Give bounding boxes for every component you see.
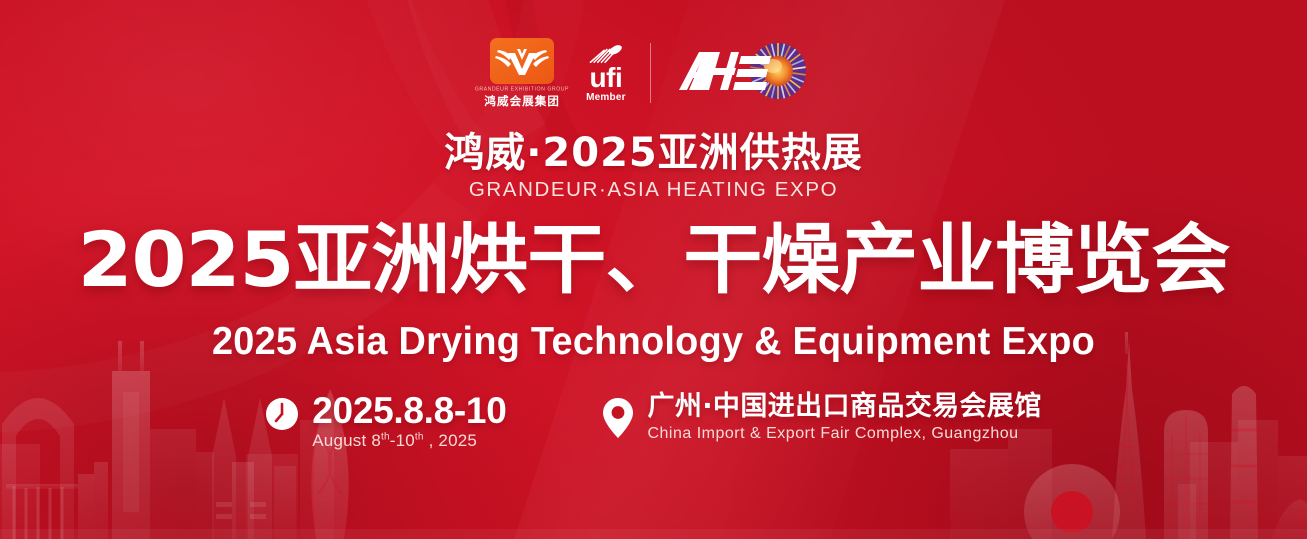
expo-title-english: GRANDEUR·ASIA HEATING EXPO bbox=[0, 178, 1307, 202]
date-sub-sup1: th bbox=[381, 431, 390, 442]
event-location-main: 广州·中国进出口商品交易会展馆 bbox=[647, 392, 1041, 422]
event-location-text: 广州·中国进出口商品交易会展馆 China Import & Export Fa… bbox=[647, 392, 1041, 443]
event-location-sub: China Import & Export Fair Complex, Guan… bbox=[647, 425, 1041, 443]
date-sub-prefix: August 8 bbox=[312, 431, 381, 450]
ufi-member-label: Member bbox=[586, 92, 626, 103]
grandeur-chinese-label: 鸿威会展集团 bbox=[484, 93, 560, 109]
logo-divider bbox=[650, 43, 651, 103]
grandeur-english-label: GRANDEUR EXHIBITION GROUP bbox=[475, 85, 569, 91]
logo-row: GRANDEUR EXHIBITION GROUP 鸿威会展集团 ufi Mem… bbox=[0, 36, 1307, 110]
event-date-main: 2025.8.8-10 bbox=[312, 392, 506, 430]
grandeur-w-wing-mark bbox=[490, 38, 554, 84]
clock-icon bbox=[265, 397, 299, 436]
event-date-sub: August 8th-10th , 2025 bbox=[312, 431, 506, 451]
main-headline-english: 2025 Asia Drying Technology & Equipment … bbox=[20, 320, 1288, 364]
expo-title-chinese: 鸿威·2025亚洲供热展 bbox=[0, 132, 1307, 175]
main-headline-chinese: 2025亚洲烘干、干燥产业博览会 bbox=[0, 222, 1307, 298]
event-info-row: 2025.8.8-10 August 8th-10th , 2025 广州·中国… bbox=[0, 392, 1307, 451]
event-location-block: 广州·中国进出口商品交易会展馆 China Import & Export Fa… bbox=[602, 392, 1041, 444]
date-sub-sup2: th bbox=[415, 431, 424, 442]
map-pin-icon bbox=[602, 397, 634, 444]
date-sub-mid: -10 bbox=[390, 431, 415, 450]
event-date-block: 2025.8.8-10 August 8th-10th , 2025 bbox=[265, 392, 506, 451]
ahe-logo-icon: AHE bbox=[675, 42, 825, 104]
ufi-member-logo: ufi Member bbox=[586, 43, 626, 103]
event-date-text: 2025.8.8-10 August 8th-10th , 2025 bbox=[312, 392, 506, 451]
grandeur-group-logo: GRANDEUR EXHIBITION GROUP 鸿威会展集团 bbox=[482, 38, 562, 109]
date-sub-suffix: , 2025 bbox=[424, 431, 477, 450]
subtitle-block: 鸿威·2025亚洲供热展 GRANDEUR·ASIA HEATING EXPO bbox=[0, 132, 1307, 202]
ufi-wordmark: ufi bbox=[590, 66, 623, 91]
expo-banner: GRANDEUR EXHIBITION GROUP 鸿威会展集团 ufi Mem… bbox=[0, 0, 1307, 539]
